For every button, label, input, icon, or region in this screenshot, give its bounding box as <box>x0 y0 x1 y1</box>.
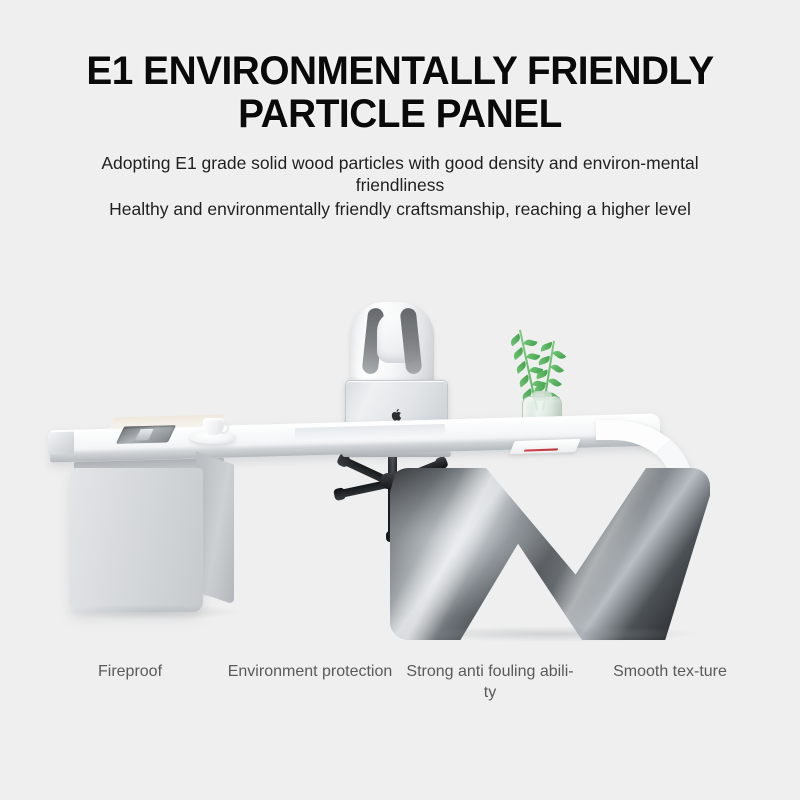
plant-leaf <box>514 361 528 374</box>
feature-environment-protection: Environment protection <box>220 662 400 704</box>
product-image <box>0 280 800 650</box>
plant-leaf <box>548 376 562 389</box>
plant-leaf <box>511 347 525 360</box>
plant-leaf <box>550 362 564 375</box>
plant-leaf <box>509 333 523 346</box>
chair-headrest <box>377 311 419 363</box>
plant-leaf <box>552 349 566 362</box>
leg-shadow <box>402 626 702 642</box>
page-title-line-2: PARTICLE PANEL <box>238 92 562 136</box>
feature-smooth-texture: Smooth tex-ture <box>580 662 760 704</box>
subtitle-paragraph-1: Adopting E1 grade solid wood particles w… <box>55 152 745 197</box>
subtitle-block: Adopting E1 grade solid wood particles w… <box>0 152 800 220</box>
feature-row: Fireproof Environment protection Strong … <box>40 662 760 704</box>
headline-block: E1 ENVIRONMENTALLY FRIENDLY PARTICLE PAN… <box>0 50 800 136</box>
plant-leaf <box>539 342 553 352</box>
pedestal-cabinet <box>70 468 203 612</box>
feature-anti-fouling: Strong anti fouling abili-ty <box>400 662 580 704</box>
product-feature-page: E1 ENVIRONMENTALLY FRIENDLY PARTICLE PAN… <box>0 0 800 800</box>
page-title-line-1: E1 ENVIRONMENTALLY FRIENDLY <box>86 49 713 93</box>
plant-leaf <box>517 375 531 388</box>
notebook <box>509 439 580 454</box>
feature-fireproof: Fireproof <box>40 662 220 704</box>
desk-left-corner <box>48 432 74 455</box>
chrome-leg-highlight <box>390 468 710 640</box>
apple-logo-icon <box>391 408 403 422</box>
coffee-cup <box>203 418 224 435</box>
subtitle-paragraph-2: Healthy and environmentally friendly cra… <box>55 198 745 220</box>
cable-port <box>116 425 176 444</box>
page-title: E1 ENVIRONMENTALLY FRIENDLY PARTICLE PAN… <box>61 50 740 136</box>
plant-leaf <box>523 338 537 347</box>
chrome-w-leg <box>390 468 710 640</box>
pedestal-shadow <box>62 604 242 620</box>
